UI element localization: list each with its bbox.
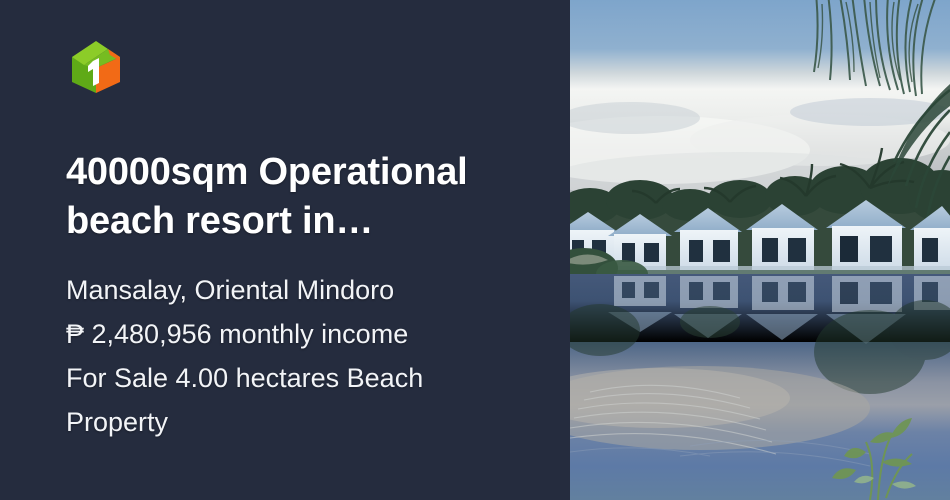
page-title: 40000sqm Operational beach resort in… [66,148,516,246]
resort-photo-illustration [570,0,950,500]
listing-details: Mansalay, Oriental Mindoro ₱ 2,480,956 m… [66,268,526,444]
listing-price: ₱ 2,480,956 monthly income [66,312,526,356]
beach-resort-photo [570,0,950,500]
listing-location: Mansalay, Oriental Mindoro [66,268,526,312]
listing-summary: For Sale 4.00 hectares Beach Property [66,356,526,444]
listing-info-panel: 40000sqm Operational beach resort in… Ma… [0,0,570,500]
property-listing-card: 40000sqm Operational beach resort in… Ma… [0,0,950,500]
house-logo-icon [66,36,126,96]
